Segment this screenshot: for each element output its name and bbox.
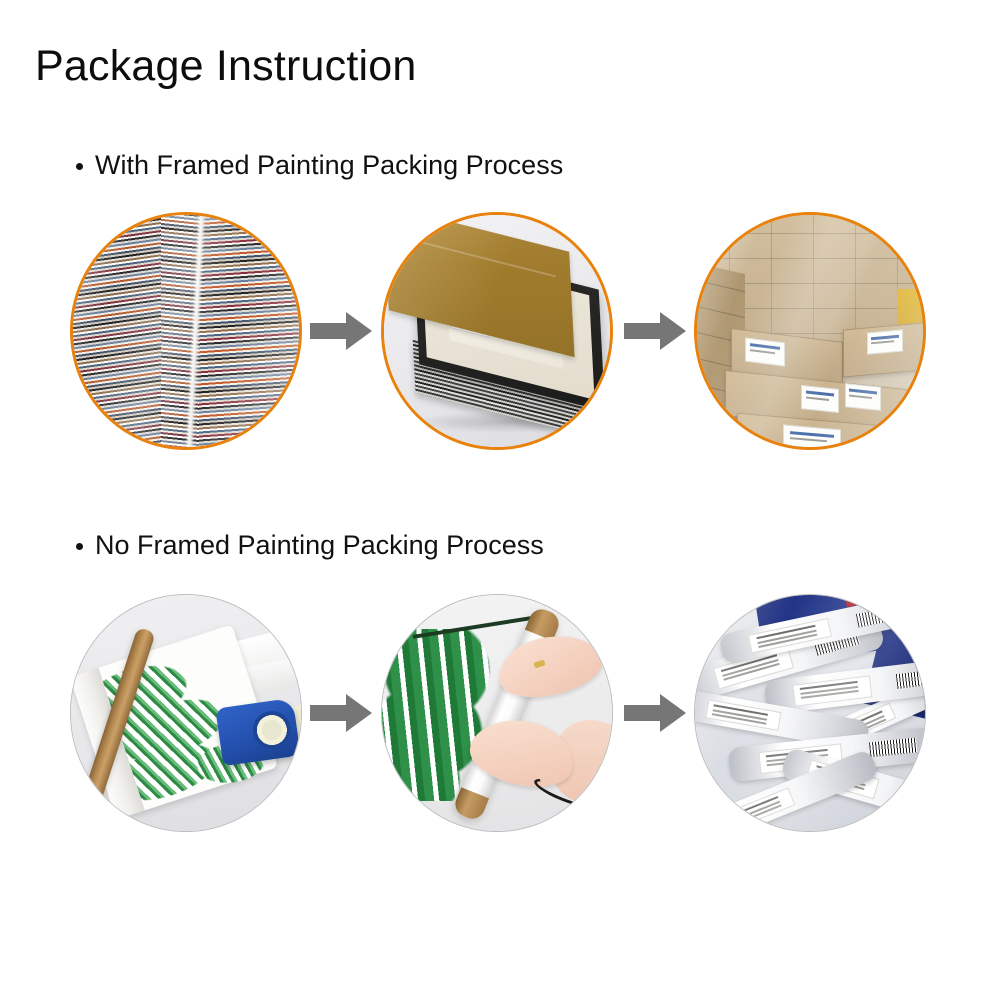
- tube-pile-scene: [695, 595, 925, 831]
- barcode: [869, 737, 917, 757]
- framed-painting-in-open-carton-image: [384, 215, 610, 447]
- barcode: [896, 669, 925, 690]
- page-title: Package Instruction: [35, 40, 416, 92]
- unframed-step-2-photo: [381, 594, 613, 832]
- warehouse-stacks-scene: [73, 215, 299, 447]
- section-heading-framed-label: With Framed Painting Packing Process: [95, 148, 563, 182]
- warehouse-cartons-scene: [697, 215, 923, 447]
- arrow-step-2-to-3-icon: [624, 312, 686, 350]
- sealed-cartons-with-shipping-labels-image: [697, 215, 923, 447]
- framed-step-1-photo: [70, 212, 302, 450]
- shipping-label: [792, 675, 872, 706]
- shipping-label: [719, 787, 795, 831]
- barcode: [855, 604, 903, 627]
- hands-rolling-canvas-into-tube-image: [382, 595, 612, 831]
- carton-scene: [384, 215, 610, 447]
- wrapped-tubes-with-labels-pile-image: [695, 595, 925, 831]
- blue-tape-dispenser: [215, 698, 300, 766]
- unframed-step-1-photo: [70, 594, 302, 832]
- section-heading-framed: With Framed Painting Packing Process: [76, 148, 563, 182]
- hands-scene: [382, 595, 612, 831]
- plastic-wrap-sheen: [697, 215, 923, 447]
- plastic-wrap-sheen: [73, 215, 299, 447]
- rolled-canvas-tube-and-tape-image: [71, 595, 301, 831]
- framed-process-row: [0, 212, 1000, 452]
- wrapped-framed-paintings-stacks-image: [73, 215, 299, 447]
- arrow-step-2-to-3-icon: [624, 694, 686, 732]
- packing-table-scene: [71, 595, 301, 831]
- framed-step-2-photo: [381, 212, 613, 450]
- section-heading-unframed-label: No Framed Painting Packing Process: [95, 528, 544, 562]
- bullet-point-icon: [76, 543, 83, 550]
- shipping-label: [705, 699, 781, 731]
- unframed-process-row: [0, 594, 1000, 834]
- arrow-step-1-to-2-icon: [310, 694, 372, 732]
- arrow-step-1-to-2-icon: [310, 312, 372, 350]
- framed-step-3-photo: [694, 212, 926, 450]
- section-heading-unframed: No Framed Painting Packing Process: [76, 528, 544, 562]
- package-instruction-page: Package Instruction With Framed Painting…: [0, 0, 1000, 1000]
- unframed-step-3-photo: [694, 594, 926, 832]
- hand: [493, 627, 607, 705]
- bullet-point-icon: [76, 163, 83, 170]
